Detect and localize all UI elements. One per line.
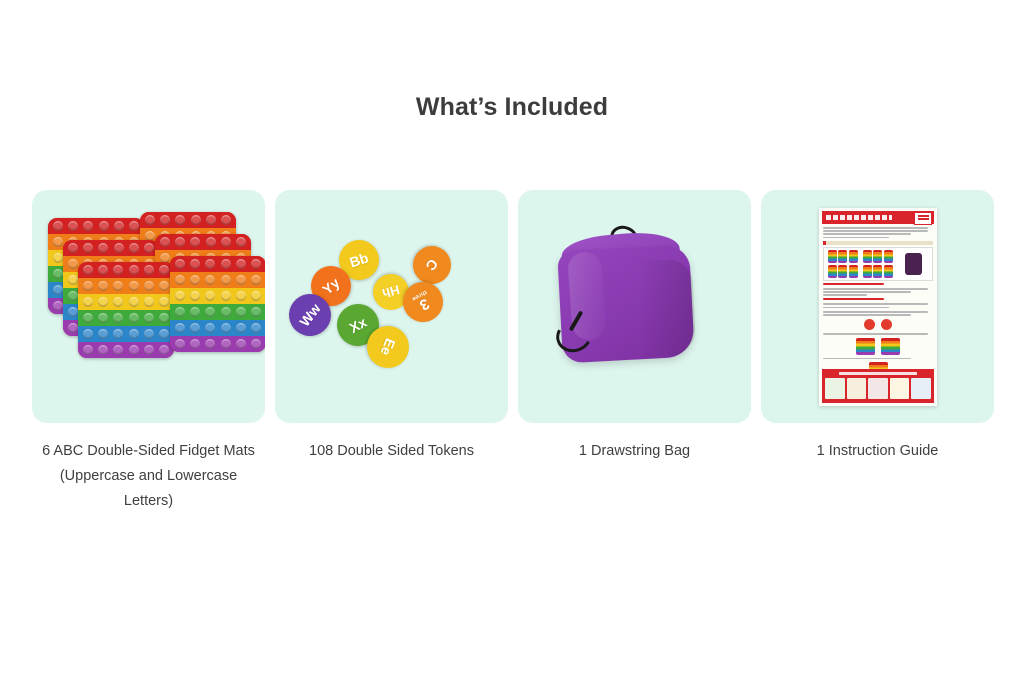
fidget-bubble xyxy=(53,301,63,311)
fidget-bubble xyxy=(236,339,246,349)
fidget-bubble xyxy=(236,323,246,333)
included-item-double-sided-tokens[interactable]: BbCYyHh3threeWwXxEe 108 Double Sided Tok… xyxy=(275,190,508,514)
token-label: Bb xyxy=(348,250,371,271)
fidget-mat-row xyxy=(140,212,236,228)
fidget-bubble xyxy=(129,281,139,291)
fidget-bubble xyxy=(190,259,200,269)
fidget-bubble xyxy=(159,265,169,275)
fidget-mat-row xyxy=(78,310,174,326)
fidget-bubble xyxy=(113,281,123,291)
fidget-bubble xyxy=(205,291,215,301)
fidget-bubble xyxy=(236,259,246,269)
fidget-bubble xyxy=(221,307,231,317)
fidget-bubble xyxy=(221,215,231,225)
fidget-bubble xyxy=(113,329,123,339)
fidget-bubble xyxy=(251,323,261,333)
fidget-bubble xyxy=(221,259,231,269)
item-caption-4-line1: 1 Instruction Guide xyxy=(817,443,939,459)
fidget-mat-row xyxy=(78,262,174,278)
fidget-bubble xyxy=(144,345,154,355)
guide-header-title xyxy=(826,215,892,220)
guide-subheading-2 xyxy=(823,283,884,285)
guide-body-text-1 xyxy=(823,288,933,296)
guide-contents-panel xyxy=(823,247,933,281)
fidget-bubble xyxy=(175,307,185,317)
fidget-bubble xyxy=(83,281,93,291)
guide-mats-column-a xyxy=(826,250,859,278)
fidget-bubble xyxy=(191,215,201,225)
fidget-bubble xyxy=(83,243,93,253)
token-label: Ee xyxy=(377,336,398,358)
token-label: C xyxy=(423,256,442,274)
fidget-bubble xyxy=(175,237,185,247)
fidget-bubble xyxy=(205,275,215,285)
guide-subheading-3 xyxy=(823,298,884,300)
fidget-bubble xyxy=(175,291,185,301)
fidget-bubble xyxy=(205,307,215,317)
rainbow-pop-it-fidget-mats-image xyxy=(32,190,265,423)
item-caption-1: 6 ABC Double-Sided Fidget Mats (Uppercas… xyxy=(36,439,261,514)
fidget-bubble xyxy=(236,237,246,247)
fidget-bubble xyxy=(129,221,139,231)
fidget-bubble xyxy=(98,329,108,339)
fidget-bubble xyxy=(251,259,261,269)
fidget-mat-row xyxy=(170,272,265,288)
fidget-mat-row xyxy=(170,320,265,336)
fidget-bubble xyxy=(113,297,123,307)
fidget-bubble xyxy=(144,243,154,253)
fidget-bubble xyxy=(251,275,261,285)
fidget-bubble xyxy=(159,329,169,339)
fidget-bubble xyxy=(83,329,93,339)
fidget-mat-row xyxy=(63,240,159,256)
guide-figure-2 xyxy=(823,338,933,355)
guide-intro-text xyxy=(823,227,933,238)
fidget-mat-row xyxy=(78,342,174,358)
fidget-bubble xyxy=(83,345,93,355)
fidget-bubble xyxy=(175,275,185,285)
fidget-bubble xyxy=(68,259,78,269)
fidget-bubble xyxy=(190,339,200,349)
fidget-bubble xyxy=(159,345,169,355)
fidget-bubble xyxy=(144,329,154,339)
fidget-bubble xyxy=(145,215,155,225)
fidget-mat-row xyxy=(170,288,265,304)
fidget-bubble xyxy=(175,259,185,269)
fidget-bubble xyxy=(53,253,63,263)
fidget-bubble xyxy=(129,313,139,323)
fidget-bubble xyxy=(129,243,139,253)
fidget-bubble xyxy=(83,221,93,231)
token-label: Xx xyxy=(347,314,370,336)
item-caption-4: 1 Instruction Guide xyxy=(765,439,990,464)
fidget-bubble xyxy=(68,307,78,317)
purple-drawstring-bag-image xyxy=(518,190,751,423)
item-image-card-2: BbCYyHh3threeWwXxEe xyxy=(275,190,508,423)
fidget-bubble xyxy=(190,307,200,317)
included-item-abc-fidget-mats[interactable]: 6 ABC Double-Sided Fidget Mats (Uppercas… xyxy=(32,190,265,514)
page-title: What’s Included xyxy=(0,93,1024,122)
fidget-bubble xyxy=(114,243,124,253)
item-image-card-4 xyxy=(761,190,994,423)
item-caption-3: 1 Drawstring Bag xyxy=(522,439,747,464)
fidget-bubble xyxy=(129,297,139,307)
fidget-bubble xyxy=(98,281,108,291)
fidget-bubble xyxy=(175,215,185,225)
fidget-bubble xyxy=(53,269,63,279)
fidget-bubble xyxy=(98,297,108,307)
fidget-bubble xyxy=(221,291,231,301)
fidget-bubble xyxy=(205,339,215,349)
fidget-bubble xyxy=(206,215,216,225)
token-label: Hh xyxy=(381,283,402,302)
fidget-bubble xyxy=(221,275,231,285)
fidget-bubble xyxy=(68,323,78,333)
fidget-mat-row xyxy=(155,234,251,250)
fidget-bubble xyxy=(251,291,261,301)
fidget-bubble xyxy=(236,307,246,317)
alphabet-tokens-image: BbCYyHh3threeWwXxEe xyxy=(275,190,508,423)
fidget-bubble xyxy=(68,221,78,231)
fidget-bubble xyxy=(251,307,261,317)
fidget-bubble xyxy=(175,323,185,333)
fidget-bubble xyxy=(206,237,216,247)
fidget-bubble xyxy=(205,323,215,333)
fidget-mat-row xyxy=(170,304,265,320)
included-item-drawstring-bag[interactable]: 1 Drawstring Bag xyxy=(518,190,751,514)
fidget-bubble xyxy=(236,291,246,301)
fidget-bubble xyxy=(159,281,169,291)
included-item-instruction-guide[interactable]: 1 Instruction Guide xyxy=(761,190,994,514)
fidget-bubble xyxy=(221,323,231,333)
fidget-bubble xyxy=(68,275,78,285)
fidget-bubble xyxy=(205,259,215,269)
bag-shadow-side xyxy=(636,259,697,358)
fidget-mat-row xyxy=(78,326,174,342)
fidget-bubble xyxy=(129,345,139,355)
fidget-bubble xyxy=(98,243,108,253)
fidget-bubble xyxy=(160,237,170,247)
fidget-mat-row xyxy=(78,294,174,310)
whats-included-section: What’s Included 6 ABC Double-Sided Fidge… xyxy=(0,0,1024,683)
fidget-bubble xyxy=(68,243,78,253)
fidget-mat xyxy=(170,256,265,352)
guide-brand-logo-icon xyxy=(914,212,932,225)
fidget-bubble xyxy=(53,221,63,231)
fidget-bubble xyxy=(129,329,139,339)
fidget-bubble xyxy=(83,297,93,307)
fidget-bubble xyxy=(83,313,93,323)
fidget-bubble xyxy=(190,323,200,333)
fidget-bubble xyxy=(83,265,93,275)
token-label: Yy xyxy=(319,274,342,297)
guide-header-bar xyxy=(822,211,934,224)
included-items-grid: 6 ABC Double-Sided Fidget Mats (Uppercas… xyxy=(32,190,993,514)
fidget-bubble xyxy=(53,237,63,247)
fidget-bubble xyxy=(236,275,246,285)
fidget-bubble xyxy=(144,297,154,307)
fidget-bubble xyxy=(99,221,109,231)
fidget-bubble xyxy=(68,291,78,301)
fidget-bubble xyxy=(251,339,261,349)
instruction-guide-sheet-image xyxy=(819,208,937,406)
fidget-bubble xyxy=(144,281,154,291)
fidget-bubble xyxy=(98,345,108,355)
guide-bag-column xyxy=(897,250,930,278)
fidget-bubble xyxy=(190,291,200,301)
fidget-bubble xyxy=(144,313,154,323)
fidget-bubble xyxy=(190,275,200,285)
fidget-bubble xyxy=(221,339,231,349)
fidget-mat-row xyxy=(48,218,144,234)
token-label: Ww xyxy=(296,301,323,330)
item-caption-2: 108 Double Sided Tokens xyxy=(279,439,504,464)
guide-subheading-1 xyxy=(823,241,933,245)
fidget-bubble xyxy=(114,221,124,231)
guide-mats-column-b xyxy=(861,250,894,278)
fidget-bubble xyxy=(159,297,169,307)
item-image-card-1 xyxy=(32,190,265,423)
fidget-mat-row xyxy=(170,336,265,352)
fidget-bubble xyxy=(113,345,123,355)
item-image-card-3 xyxy=(518,190,751,423)
guide-body-text-2 xyxy=(823,303,933,308)
fidget-bubble xyxy=(53,285,63,295)
fidget-bubble xyxy=(98,313,108,323)
guide-figure-1 xyxy=(823,319,933,330)
fidget-bubble xyxy=(175,339,185,349)
fidget-bubble xyxy=(113,313,123,323)
fidget-bubble xyxy=(98,265,108,275)
item-caption-3-line1: 1 Drawstring Bag xyxy=(579,443,690,459)
item-caption-1-line1: 6 ABC Double-Sided Fidget Mats xyxy=(42,443,255,459)
item-caption-2-line1: 108 Double Sided Tokens xyxy=(309,443,474,459)
fidget-bubble xyxy=(113,265,123,275)
fidget-mat xyxy=(78,262,174,358)
fidget-bubble xyxy=(221,237,231,247)
fidget-mat-row xyxy=(170,256,265,272)
fidget-bubble xyxy=(144,265,154,275)
fidget-mat-row xyxy=(78,278,174,294)
fidget-bubble xyxy=(190,237,200,247)
fidget-bubble xyxy=(129,265,139,275)
guide-footer-products xyxy=(822,369,934,403)
fidget-bubble xyxy=(159,313,169,323)
item-caption-1-line2: (Uppercase and Lowercase Letters) xyxy=(36,464,261,514)
fidget-bubble xyxy=(160,215,170,225)
